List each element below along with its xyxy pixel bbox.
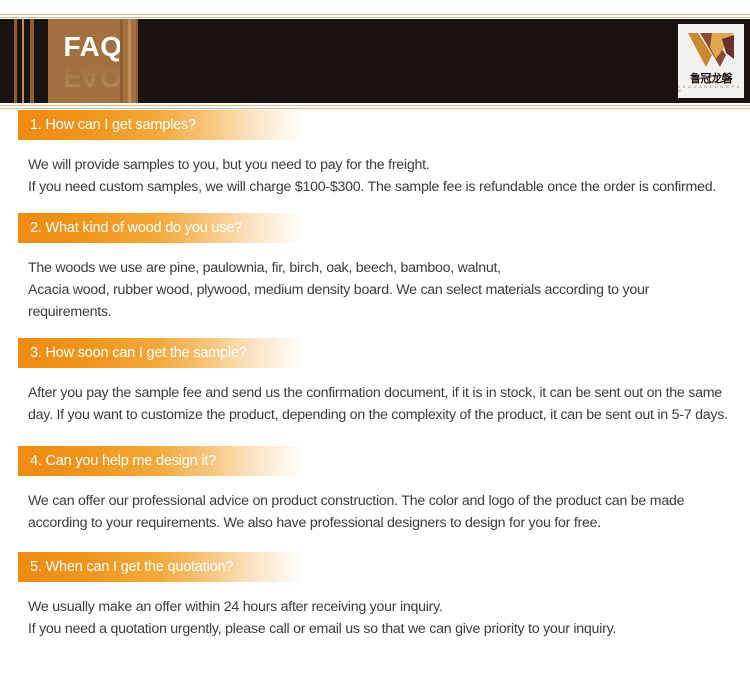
faq-question-bar-2[interactable]: 2. What kind of wood do you use? <box>18 213 328 243</box>
faq-item-5: 5. When can I get the quotation? We usua… <box>0 552 750 640</box>
faq-answer-5: We usually make an offer within 24 hours… <box>28 596 728 640</box>
faq-answer-line: We can offer our professional advice on … <box>28 490 728 534</box>
faq-item-4: 4. Can you help me design it? We can off… <box>0 446 750 534</box>
faq-answer-3: After you pay the sample fee and send us… <box>28 382 728 426</box>
faq-answer-line: After you pay the sample fee and send us… <box>28 382 728 426</box>
faq-question-3: 3. How soon can I get the sample? <box>18 345 247 361</box>
page-header: FAQ FAQ 鲁冠龙磐 L U G U A N L O N G P A N <box>0 0 750 110</box>
faq-question-bar-1[interactable]: 1. How can I get samples? <box>18 110 328 140</box>
faq-question-4: 4. Can you help me design it? <box>18 453 216 469</box>
faq-question-5: 5. When can I get the quotation? <box>18 559 233 575</box>
faq-question-bar-3[interactable]: 3. How soon can I get the sample? <box>18 338 328 368</box>
company-logo-mark <box>686 29 736 71</box>
header-stripe-6 <box>136 19 138 103</box>
company-logo: 鲁冠龙磐 L U G U A N L O N G P A N <box>678 24 744 98</box>
header-stripe-5 <box>128 19 131 103</box>
faq-gap <box>0 534 750 552</box>
faq-answer-line: We will provide samples to you, but you … <box>28 154 728 176</box>
faq-title-block: FAQ FAQ <box>48 19 138 103</box>
faq-answer-line: The woods we use are pine, paulownia, fi… <box>28 257 728 279</box>
faq-answer-line: We usually make an offer within 24 hours… <box>28 596 728 618</box>
header-bottom-rule-second <box>0 108 750 109</box>
header-stripe-1 <box>14 19 17 103</box>
header-stripe-3 <box>30 19 34 103</box>
header-stripe-4 <box>120 19 123 103</box>
page-title: FAQ <box>63 33 122 61</box>
faq-item-1: 1. How can I get samples? We will provid… <box>0 110 750 198</box>
header-top-rule-second <box>0 17 750 18</box>
faq-answer-line: If you need a quotation urgently, please… <box>28 618 728 640</box>
faq-answer-2: The woods we use are pine, paulownia, fi… <box>28 257 728 323</box>
header-stripe-2 <box>22 19 24 103</box>
page-title-reflection: FAQ <box>63 63 122 91</box>
faq-answer-1: We will provide samples to you, but you … <box>28 154 728 198</box>
faq-question-bar-5[interactable]: 5. When can I get the quotation? <box>18 552 328 582</box>
company-logo-text: 鲁冠龙磐 <box>690 73 732 84</box>
company-logo-pinyin: L U G U A N L O N G P A N <box>678 86 744 93</box>
header-bar: FAQ FAQ 鲁冠龙磐 L U G U A N L O N G P A N <box>0 19 750 103</box>
faq-answer-4: We can offer our professional advice on … <box>28 490 728 534</box>
header-top-rule <box>0 14 750 15</box>
header-bottom-rule <box>0 105 750 106</box>
faq-question-bar-4[interactable]: 4. Can you help me design it? <box>18 446 328 476</box>
faq-question-2: 2. What kind of wood do you use? <box>18 220 242 236</box>
faq-gap <box>0 323 750 338</box>
faq-gap <box>0 426 750 446</box>
faq-list: 1. How can I get samples? We will provid… <box>0 110 750 640</box>
faq-answer-line: If you need custom samples, we will char… <box>28 176 728 198</box>
faq-answer-line: Acacia wood, rubber wood, plywood, mediu… <box>28 279 728 323</box>
faq-item-3: 3. How soon can I get the sample? After … <box>0 338 750 426</box>
faq-gap <box>0 198 750 213</box>
faq-question-1: 1. How can I get samples? <box>18 117 196 133</box>
faq-item-2: 2. What kind of wood do you use? The woo… <box>0 213 750 323</box>
